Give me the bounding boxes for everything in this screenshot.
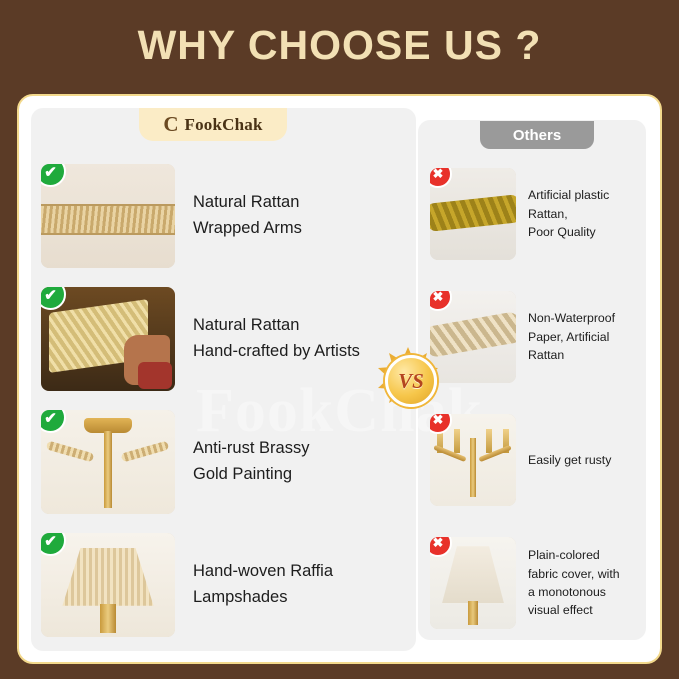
drawback-row: ✖ Easily get rusty: [430, 414, 634, 506]
others-label: Others: [513, 127, 561, 144]
brand-monogram-icon: C: [163, 114, 178, 135]
benefit-image: ✔: [41, 410, 175, 514]
drawback-text: Easily get rusty: [528, 414, 636, 506]
drawback-row: ✖ Plain-colored fabric cover, with a mon…: [430, 537, 634, 629]
benefit-image: ✔: [41, 533, 175, 637]
drawback-row: ✖ Non-Waterproof Paper, Artificial Ratta…: [430, 291, 634, 383]
others-chip: Others: [480, 121, 594, 149]
benefit-row: ✔ Natural Rattan Wrapped Arms: [41, 164, 409, 268]
benefit-image: ✔: [41, 287, 175, 391]
vs-badge: VS: [385, 355, 437, 407]
comparison-infographic: WHY CHOOSE US ? FookChak C FookChak Othe…: [0, 0, 679, 679]
drawback-text: Plain-colored fabric cover, with a monot…: [528, 537, 636, 629]
brand-chip: C FookChak: [139, 108, 287, 141]
drawback-text: Non-Waterproof Paper, Artificial Rattan: [528, 291, 636, 383]
benefit-text: Hand-woven Raffia Lampshades: [193, 533, 409, 637]
drawback-text: Artificial plastic Rattan, Poor Quality: [528, 168, 636, 260]
drawback-image: ✖: [430, 537, 516, 629]
benefit-text: Anti-rust Brassy Gold Painting: [193, 410, 409, 514]
drawback-image: ✖: [430, 414, 516, 506]
benefit-row: ✔ Anti-rust Brassy Gold Painting: [41, 410, 409, 514]
benefit-row: ✔ Hand-woven Raffia Lampshades: [41, 533, 409, 637]
benefit-image: ✔: [41, 164, 175, 268]
vs-label: VS: [398, 369, 424, 394]
drawback-image: ✖: [430, 168, 516, 260]
benefit-row: ✔ Natural Rattan Hand-crafted by Artists: [41, 287, 409, 391]
benefit-text: Natural Rattan Wrapped Arms: [193, 164, 409, 268]
brand-name: FookChak: [185, 115, 263, 135]
drawback-image: ✖: [430, 291, 516, 383]
drawback-row: ✖ Artificial plastic Rattan, Poor Qualit…: [430, 168, 634, 260]
page-title: WHY CHOOSE US ?: [0, 22, 679, 69]
